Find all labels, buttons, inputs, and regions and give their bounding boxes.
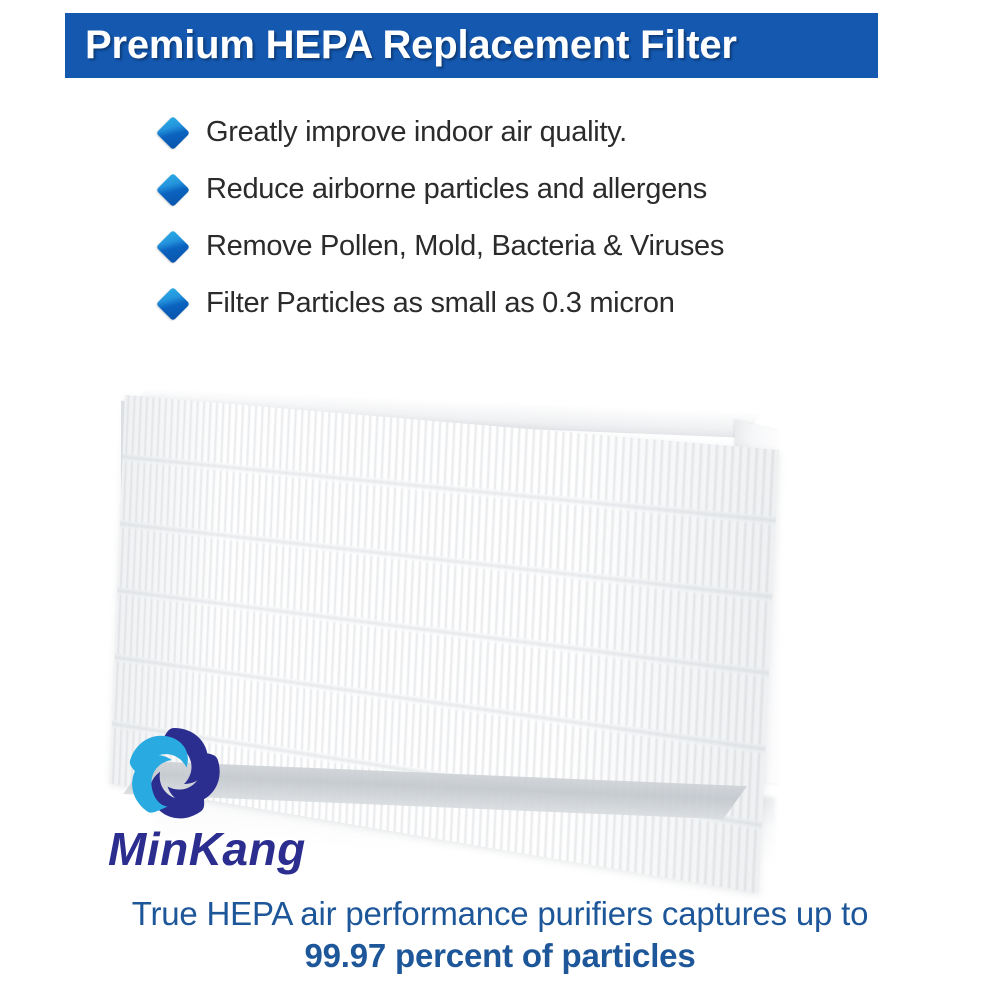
benefit-text: Filter Particles as small as 0.3 micron <box>206 287 675 320</box>
benefits-list: Greatly improve indoor air quality. Redu… <box>158 104 918 332</box>
minkang-pinwheel-logo-icon <box>118 718 230 830</box>
list-item: Remove Pollen, Mold, Bacteria & Viruses <box>158 218 918 275</box>
footer-caption: True HEPA air performance purifiers capt… <box>0 893 1000 977</box>
list-item: Greatly improve indoor air quality. <box>158 104 918 161</box>
benefit-text: Greatly improve indoor air quality. <box>206 116 627 149</box>
brand-logo: MinKang <box>108 718 328 878</box>
blue-diamond-icon <box>156 230 190 264</box>
blue-diamond-icon <box>156 287 190 321</box>
list-item: Reduce airborne particles and allergens <box>158 161 918 218</box>
blue-diamond-icon <box>156 173 190 207</box>
benefit-text: Reduce airborne particles and allergens <box>206 173 707 206</box>
blue-diamond-icon <box>156 116 190 150</box>
brand-wordmark: MinKang <box>108 822 306 876</box>
benefit-text: Remove Pollen, Mold, Bacteria & Viruses <box>206 230 724 263</box>
list-item: Filter Particles as small as 0.3 micron <box>158 275 918 332</box>
header-banner: Premium HEPA Replacement Filter <box>65 13 878 78</box>
footer-caption-line-1: True HEPA air performance purifiers capt… <box>0 893 1000 935</box>
page-title: Premium HEPA Replacement Filter <box>85 23 737 68</box>
footer-caption-line-2: 99.97 percent of particles <box>0 935 1000 977</box>
